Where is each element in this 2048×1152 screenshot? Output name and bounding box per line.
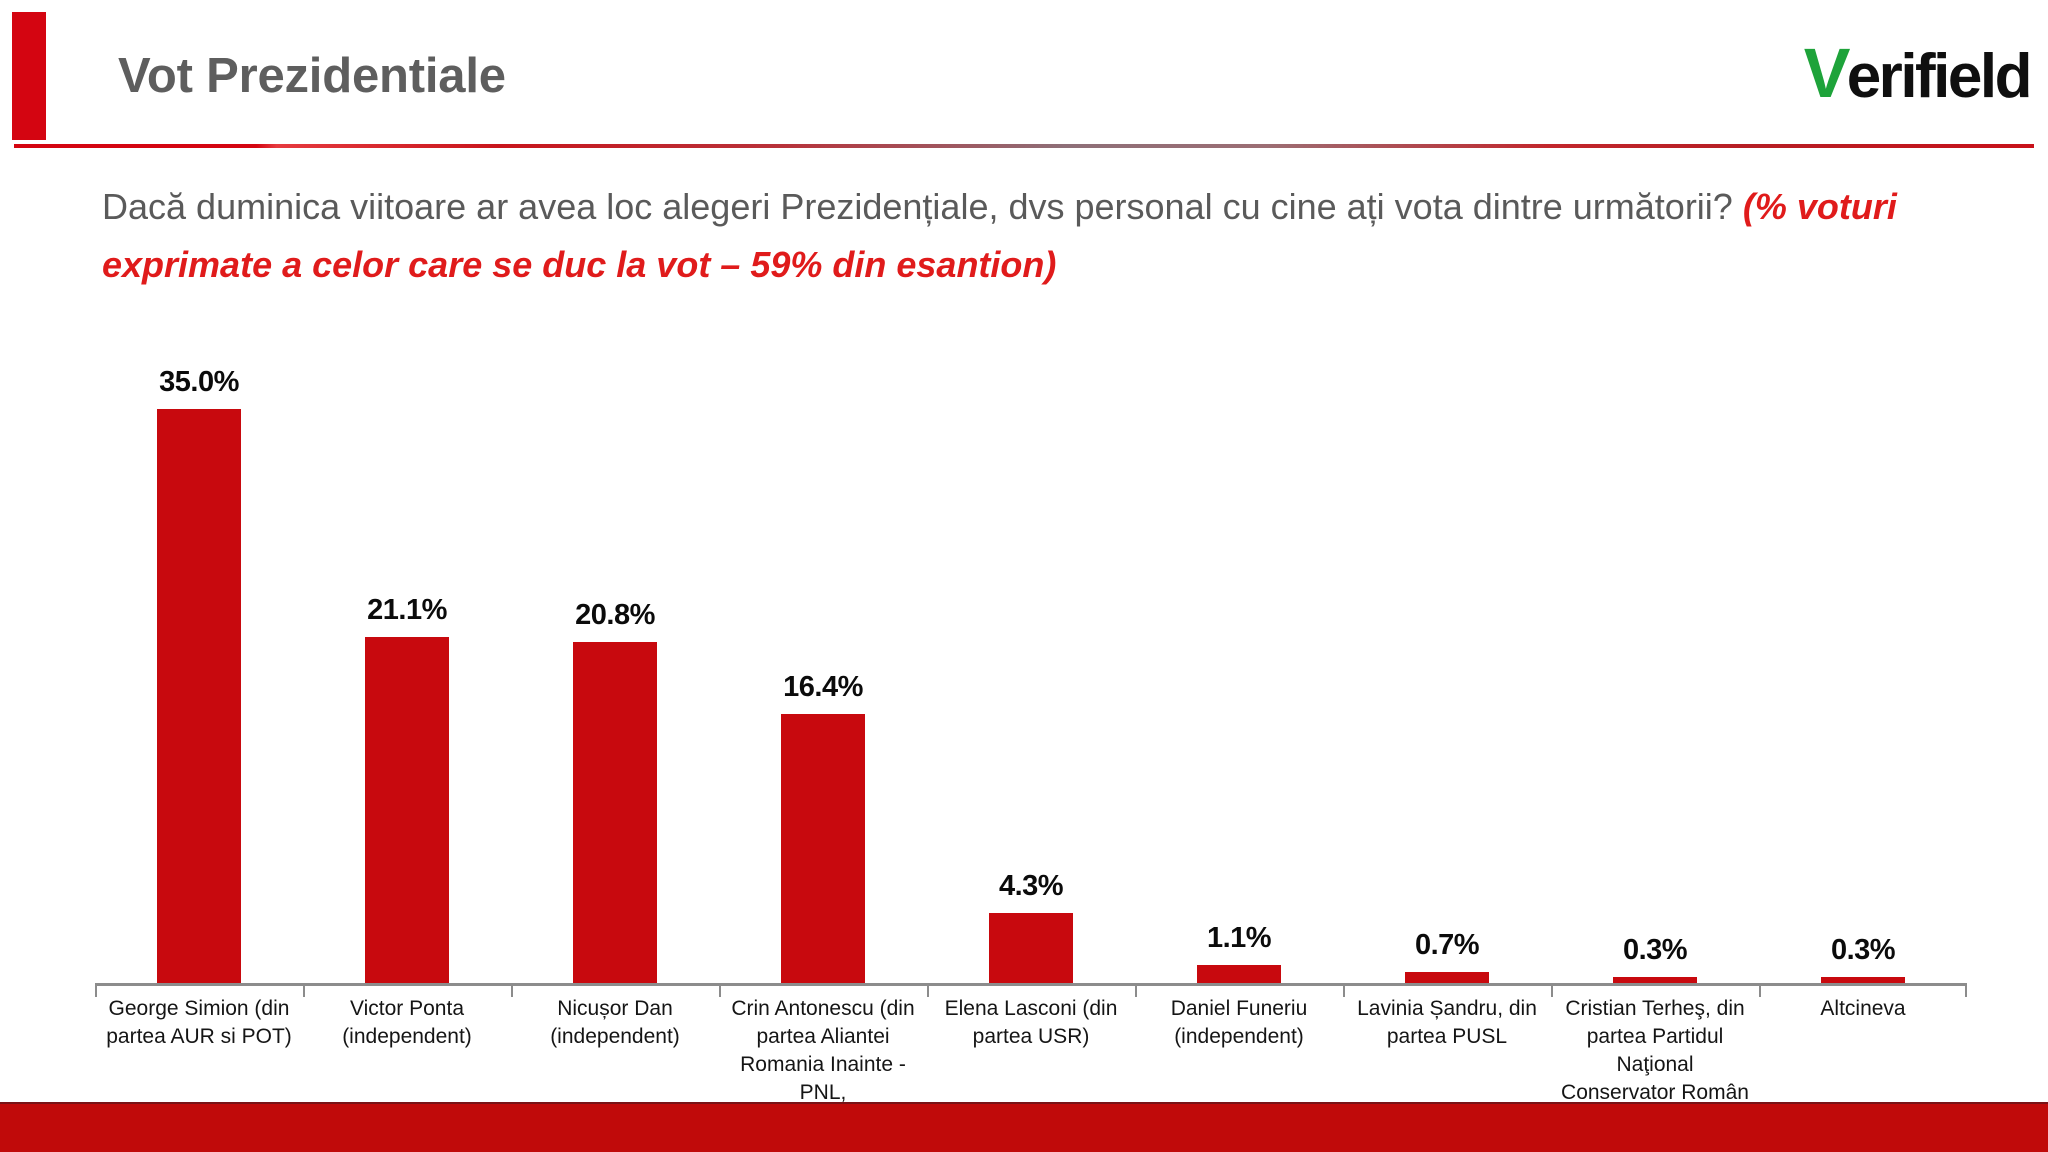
bar-group: 20.8% [511,360,719,983]
bar-group: 0.3% [1759,360,1967,983]
question-text: Dacă duminica viitoare ar avea loc alege… [102,178,2002,295]
x-axis-category-label: Daniel Funeriu(independent) [1135,995,1343,1051]
bar-value-label: 4.3% [999,870,1063,903]
bar-value-label: 0.3% [1831,934,1895,967]
bar-value-label: 0.3% [1623,934,1687,967]
bar [573,642,657,983]
x-axis-category-label: Lavinia Șandru, dinpartea PUSL [1343,995,1551,1051]
question-main: Dacă duminica viitoare ar avea loc alege… [102,186,1743,227]
x-axis-category-label: Nicușor Dan(independent) [511,995,719,1051]
logo-check-v-icon: V [1801,38,1848,108]
bar-group: 16.4% [719,360,927,983]
bar-group: 4.3% [927,360,1135,983]
page-title: Vot Prezidentiale [118,48,506,104]
x-axis-category-label: Victor Ponta(independent) [303,995,511,1051]
bar-chart: 35.0%21.1%20.8%16.4%4.3%1.1%0.7%0.3%0.3% [95,360,1967,990]
verifield-logo: V erifield [1803,38,2031,104]
bar-group: 0.7% [1343,360,1551,983]
bar-value-label: 16.4% [783,671,863,704]
logo-wordmark: erifield [1847,46,2030,108]
bar [781,714,865,983]
bar-value-label: 35.0% [159,366,239,399]
bar-group: 35.0% [95,360,303,983]
bar-value-label: 1.1% [1207,922,1271,955]
bar-value-label: 0.7% [1415,929,1479,962]
x-axis-category-label: Altcineva [1759,995,1967,1023]
x-axis-category-label: Cristian Terheş, dinpartea Partidul Naţi… [1551,995,1759,1107]
bar [157,409,241,983]
footer-accent-bar [0,1102,2048,1152]
bar-group: 21.1% [303,360,511,983]
bar-value-label: 20.8% [575,599,655,632]
bar-value-label: 21.1% [367,594,447,627]
slide-root: Vot Prezidentiale V erifield Dacă dumini… [0,0,2048,1152]
bar [365,637,449,983]
bar-group: 1.1% [1135,360,1343,983]
plot-area: 35.0%21.1%20.8%16.4%4.3%1.1%0.7%0.3%0.3% [95,360,1967,983]
header-divider [14,144,2034,148]
bar [989,913,1073,983]
slide-header: Vot Prezidentiale V erifield [0,0,2048,140]
x-axis-category-label: George Simion (dinpartea AUR si POT) [95,995,303,1051]
x-axis-line [95,983,1967,986]
header-accent-bar [12,12,46,140]
bar-group: 0.3% [1551,360,1759,983]
x-axis-category-label: Elena Lasconi (dinpartea USR) [927,995,1135,1051]
bar [1405,972,1489,983]
bar [1197,965,1281,983]
